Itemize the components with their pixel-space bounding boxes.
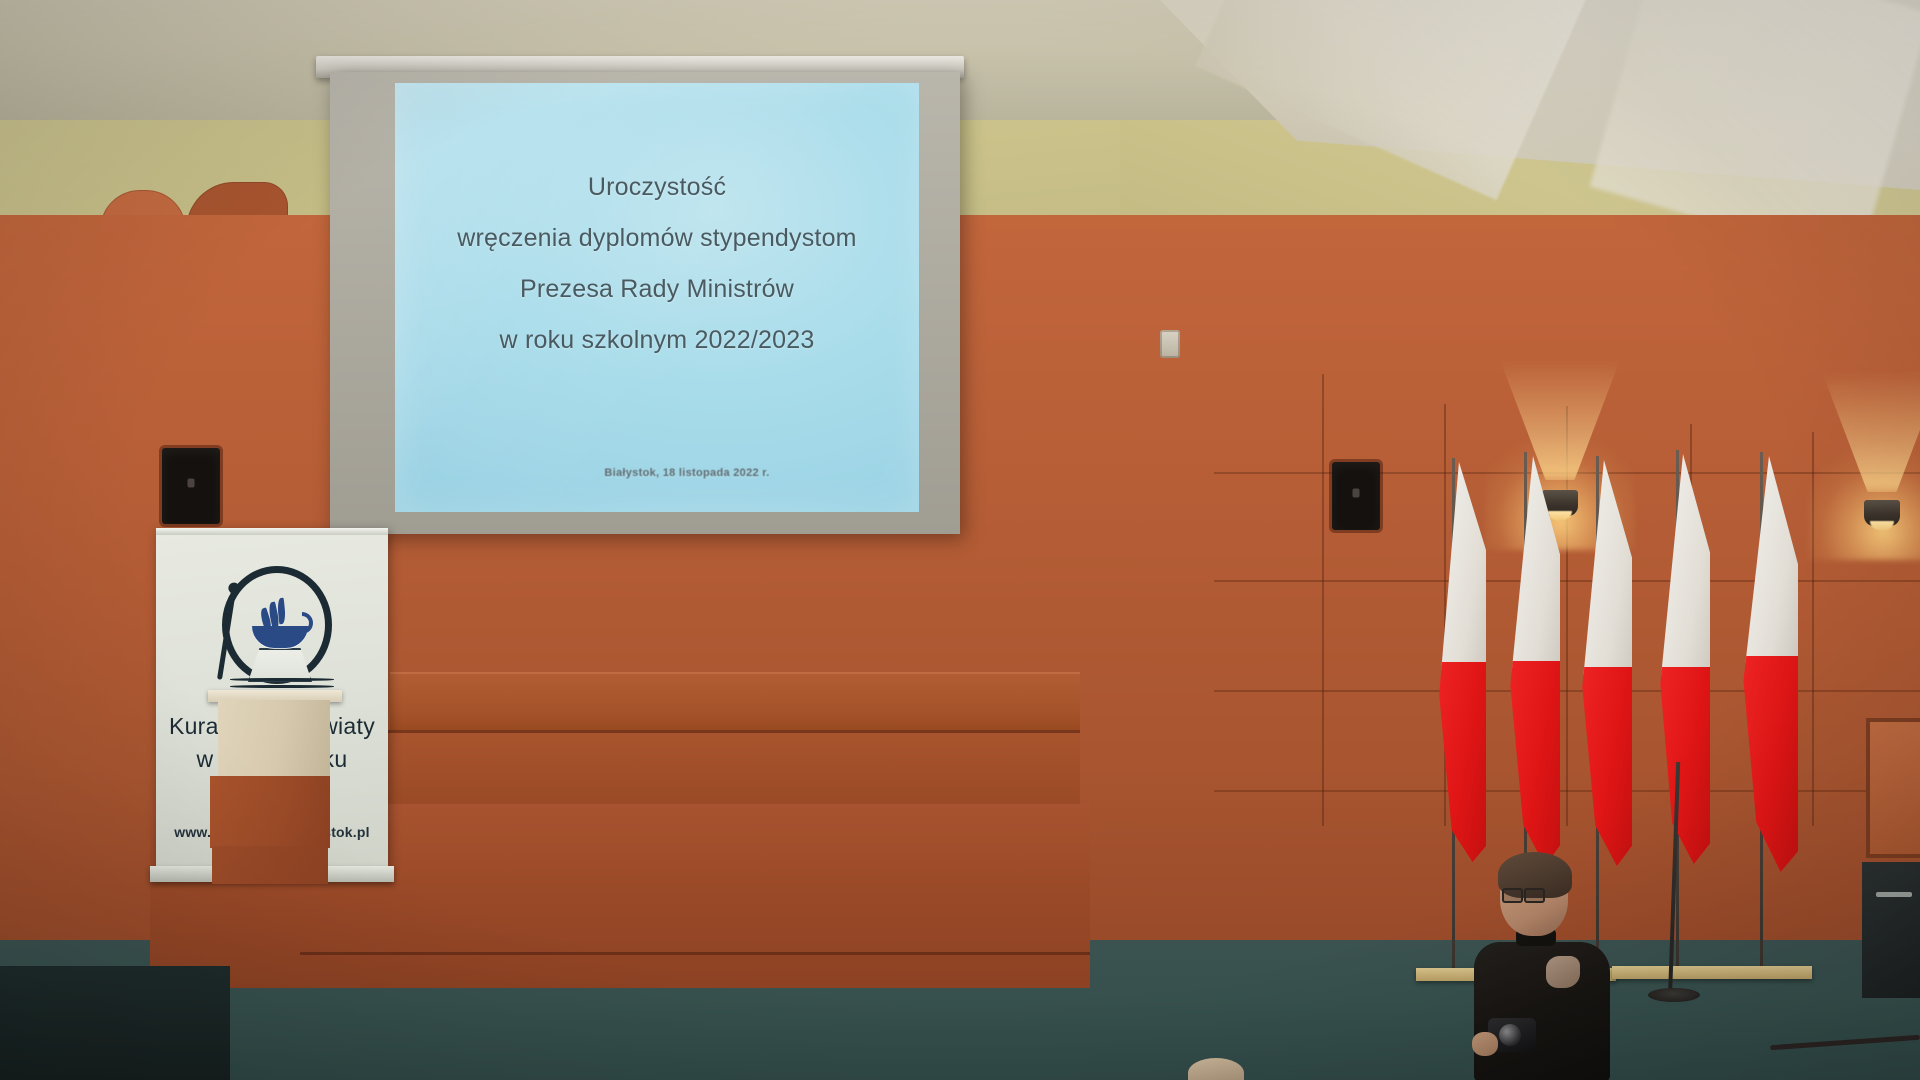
person-shoulder-highlight: [1546, 956, 1580, 988]
stage-band-upper: [390, 672, 1080, 732]
slide-line-3: Prezesa Rady Ministrów: [520, 277, 794, 302]
equipment-cabinet: [1862, 862, 1920, 998]
sconce-light-right: [1864, 500, 1900, 526]
wall-speaker-right: [1332, 462, 1380, 530]
stage-seam: [386, 730, 1080, 733]
stage-seam: [300, 952, 1090, 955]
emblem-flame-icon: [260, 598, 286, 632]
stage-band-lower: [386, 730, 1080, 804]
panel-seam: [1322, 374, 1324, 826]
slide-line-1: Uroczystość: [588, 175, 726, 200]
presentation-slide: Uroczystość wręczenia dyplomów stypendys…: [395, 83, 919, 512]
microphone-stand-base: [1648, 988, 1700, 1002]
sconce-glow-right: [1808, 430, 1920, 560]
audience-head-foreground: [1188, 1058, 1244, 1080]
floor-shadow-left: [0, 966, 230, 1080]
wall-frame-panel: [1866, 718, 1920, 858]
wall-vent-right: [1160, 330, 1180, 358]
banner-top-rail: [156, 528, 388, 535]
wall-speaker-left: [162, 448, 220, 524]
flag-base-rail-right: [1612, 966, 1812, 979]
photo-scene: Uroczystość wręczenia dyplomów stypendys…: [0, 0, 1920, 1080]
slide-line-2: wręczenia dyplomów stypendystom: [457, 226, 856, 251]
slide-line-4: w roku szkolnym 2022/2023: [500, 328, 815, 353]
podium-mid-body: [210, 776, 330, 848]
cabinet-handle[interactable]: [1876, 892, 1912, 897]
podium-base: [212, 846, 328, 884]
podium-upper-body: [218, 700, 330, 778]
person-torso: [1474, 942, 1610, 1080]
person-with-camera: [1462, 856, 1622, 1080]
person-hand: [1472, 1032, 1498, 1056]
slide-date-line: Białystok, 18 listopada 2022 r.: [395, 467, 919, 479]
glasses-icon: [1502, 888, 1548, 899]
